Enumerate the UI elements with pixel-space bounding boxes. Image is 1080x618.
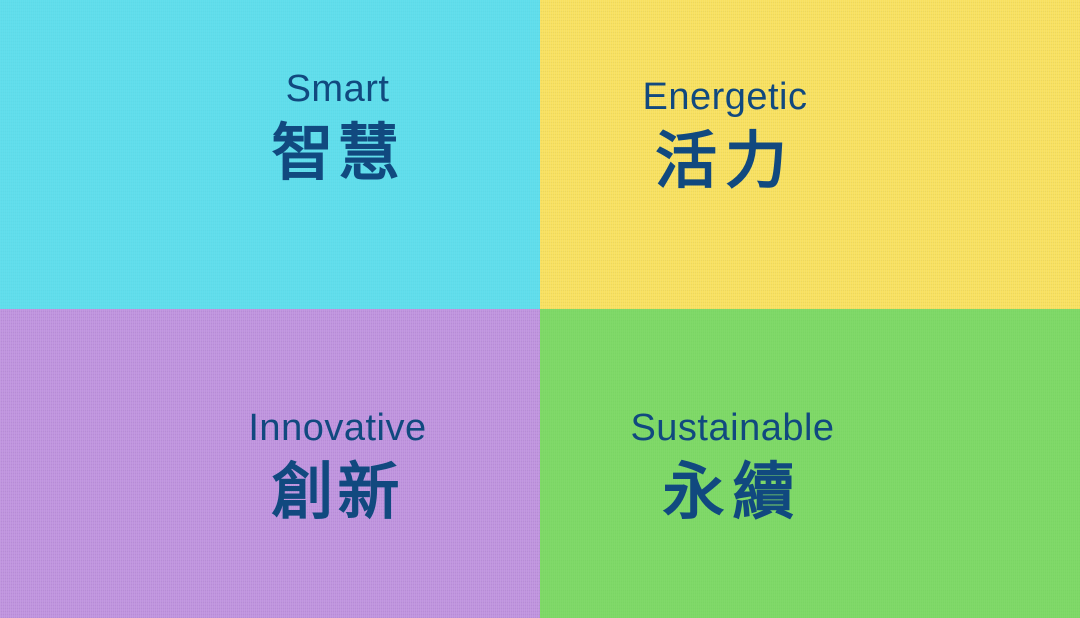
quadrant-grid: Smart 智慧 Energetic 活力 Innovative 創新 Sust… [0,0,1080,618]
panel-smart[interactable]: Smart 智慧 [0,0,540,309]
panel-sustainable-content: Sustainable 永續 [540,409,925,523]
panel-smart-label-en: Smart [286,70,390,108]
panel-energetic-label-en: Energetic [642,78,807,116]
brand-values-board: Smart 智慧 Energetic 活力 Innovative 創新 Sust… [0,0,1080,618]
panel-innovative-label-zh: 創新 [271,461,403,523]
panel-sustainable-label-en: Sustainable [630,409,834,447]
panel-smart-content: Smart 智慧 [135,70,540,184]
panel-innovative[interactable]: Innovative 創新 [0,309,540,618]
panel-innovative-label-en: Innovative [248,409,426,447]
panel-energetic[interactable]: Energetic 活力 [540,0,1080,309]
panel-energetic-label-zh: 活力 [655,130,795,192]
panel-energetic-content: Energetic 活力 [540,78,910,192]
panel-sustainable[interactable]: Sustainable 永續 [540,309,1080,618]
panel-smart-label-zh: 智慧 [271,122,403,184]
panel-innovative-content: Innovative 創新 [135,409,540,523]
panel-sustainable-label-zh: 永續 [662,461,802,523]
